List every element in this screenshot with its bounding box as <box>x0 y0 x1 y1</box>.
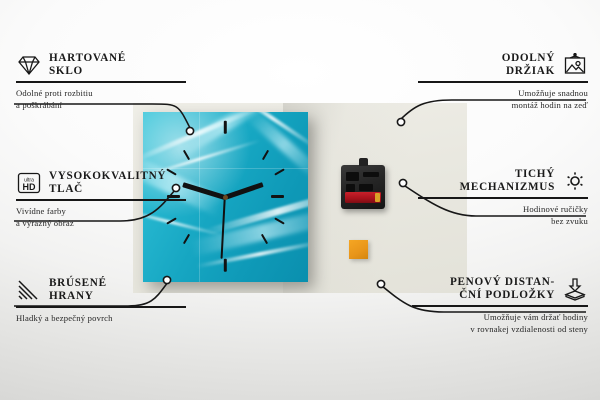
feature-silent-mechanism: TICHÝ MECHANIZMUS Hodinové ručičky bez z… <box>418 168 588 228</box>
divider <box>16 81 186 83</box>
ultra-hd-badge-icon: ultra HD <box>16 171 42 195</box>
divider <box>418 81 588 83</box>
feature-desc-line1: Hladký a bezpečný povrch <box>16 312 186 324</box>
feature-title-line2: MECHANIZMUS <box>460 181 555 194</box>
clock-mechanism <box>341 165 385 209</box>
feature-title-line1: TICHÝ <box>460 168 555 181</box>
feature-desc-line2: bez zvuku <box>418 215 588 227</box>
mechanism-hanger <box>359 158 368 166</box>
feature-title-line1: HARTOVANÉ <box>49 52 126 65</box>
tick-1 <box>262 150 269 161</box>
diamond-icon <box>16 53 42 77</box>
tick-2 <box>274 168 285 175</box>
feature-title-line1: BRÚSENÉ <box>49 277 107 290</box>
feature-desc-line2: v rovnakej vzdialenosti od steny <box>412 323 588 335</box>
feature-durable-holder: ODOLNÝ DRŽIAK Umožňuje snadnou montáž ho… <box>418 52 588 112</box>
hand-cap <box>223 195 228 200</box>
feature-title-line2: SKLO <box>49 65 126 78</box>
hatched-edge-icon <box>16 278 42 302</box>
feature-desc-line1: Hodinové ručičky <box>418 203 588 215</box>
feature-title-line2: HRANY <box>49 290 107 303</box>
picture-frame-hanger-icon <box>562 53 588 77</box>
feature-desc-line1: Odolné proti rozbitiu <box>16 87 186 99</box>
feature-desc-line2: a poškrábání <box>16 99 186 111</box>
feature-polished-edges: BRÚSENÉ HRANY Hladký a bezpečný povrch <box>16 277 186 324</box>
feature-desc-line1: Umožňuje snadnou <box>418 87 588 99</box>
feature-desc-line2: montáž hodin na zeď <box>418 99 588 111</box>
feature-tempered-glass: HARTOVANÉ SKLO Odolné proti rozbitiu a p… <box>16 52 186 112</box>
feature-title-line2: DRŽIAK <box>502 65 555 78</box>
feature-high-quality-print: ultra HD VYSOKOKVALITNÝ TLAČ Vivídne far… <box>16 170 186 230</box>
arrow-onto-layers-icon <box>562 277 588 301</box>
feature-title-line1: VYSOKOKVALITNÝ <box>49 170 166 183</box>
feature-title-line2: ČNÍ PODLOŽKY <box>450 289 555 302</box>
feature-title-line1: PENOVÝ DISTAN- <box>450 276 555 289</box>
feature-title-line2: TLAČ <box>49 183 166 196</box>
hour-hand <box>224 182 263 200</box>
feature-title-line1: ODOLNÝ <box>502 52 555 65</box>
battery <box>345 192 381 203</box>
feature-desc-line1: Vivídne farby <box>16 205 186 217</box>
foam-spacer-pad <box>349 240 368 259</box>
divider <box>16 306 186 308</box>
divider <box>412 305 588 307</box>
feature-foam-spacers: PENOVÝ DISTAN- ČNÍ PODLOŽKY Umožňuje vám… <box>412 276 588 336</box>
tick-3 <box>271 195 284 198</box>
tick-6 <box>224 259 227 272</box>
feature-desc-line1: Umožňuje vám držať hodiny <box>412 311 588 323</box>
divider <box>16 199 186 201</box>
tick-12 <box>224 121 227 134</box>
svg-text:HD: HD <box>23 182 36 192</box>
gear-icon <box>562 169 588 193</box>
divider <box>418 197 588 199</box>
product-feature-infographic: HARTOVANÉ SKLO Odolné proti rozbitiu a p… <box>0 0 600 400</box>
feature-desc-line2: a výrazný obraz <box>16 217 186 229</box>
battery-cap <box>375 193 380 202</box>
